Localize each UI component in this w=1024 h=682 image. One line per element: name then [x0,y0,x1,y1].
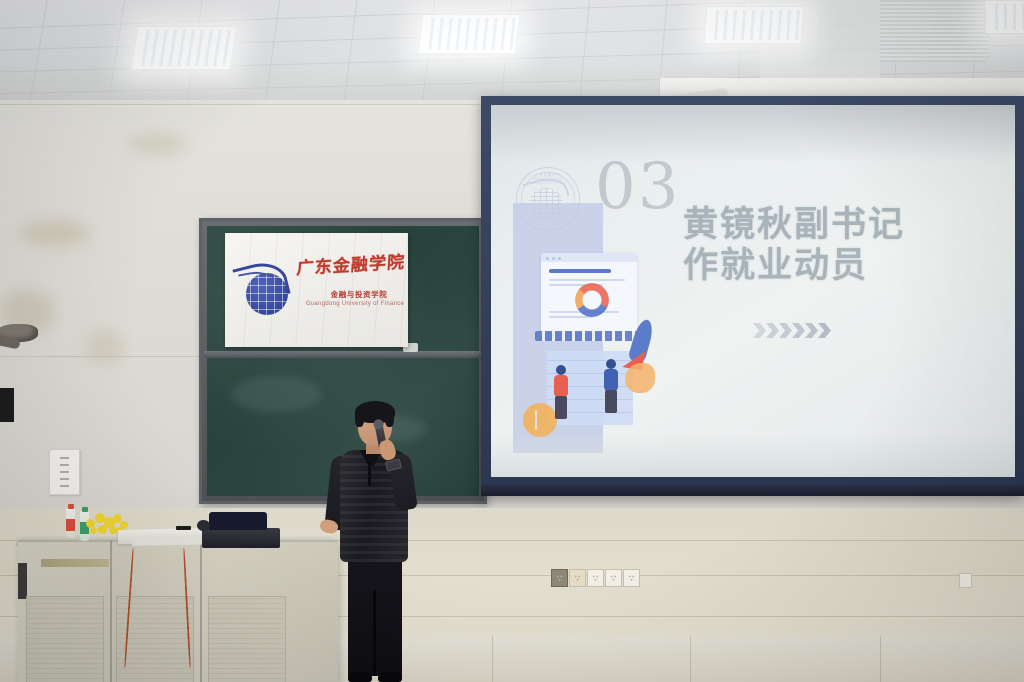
ceiling-vent [930,18,990,58]
wall-notice-sign [49,449,80,495]
flower-bloom [98,525,107,534]
ceiling-light-4 [985,0,1024,34]
wall-socket-group[interactable] [551,569,640,585]
ceiling-light-3 [704,6,805,44]
laptop [202,528,280,548]
banner-university-name-en: Guangdong University of Finance [299,301,408,307]
browser-titlebar [541,253,637,262]
chevron-icon [766,323,779,338]
mouse [197,520,210,531]
banner-university-name: 广东金融学院 [296,248,402,279]
donut-chart-icon [575,283,609,317]
lectern-nameplate [41,559,109,567]
classroom-scene: 广东金融学院 金融与投资学院 Guangdong University of F… [0,0,1024,682]
presenter-shoe-right [378,672,402,682]
projection-screen: 广东金融学院 GUANGDONG UNIVERSITY OF FINANCE [481,96,1024,496]
person-figure-red [553,365,569,419]
slide-bottom-shade [491,433,1015,477]
chevron-icon [792,323,805,338]
coin-icon [523,403,557,437]
ceiling-light-2 [418,14,520,54]
chevron-icon [818,323,831,338]
rocket-icon [623,319,665,391]
chevron-arrows-icon [753,323,831,338]
wall-socket[interactable] [605,569,622,587]
laptop-lid [209,512,267,530]
wall-socket[interactable] [551,569,568,587]
slide-title-line1: 黄镜秋副书记 [683,205,1003,246]
banner-school-name: 金融与投资学院 [309,289,408,300]
water-bottle-red-label [66,508,75,538]
chevron-icon [753,323,766,338]
chalk-rail [204,351,482,358]
speaker-with-microphone [322,404,420,682]
slide-title-line2: 作就业动员 [683,246,1003,287]
lectern-side-panel [18,563,27,599]
chevron-icon [805,323,818,338]
notice-text-lines [60,457,69,487]
university-emblem-icon: 广东金融学院 GUANGDONG UNIVERSITY OF FINANCE [516,167,580,231]
presentation-slide: 广东金融学院 GUANGDONG UNIVERSITY OF FINANCE [491,105,1015,477]
chevron-icon [779,323,792,338]
presenter-trousers [348,556,402,676]
flower-bloom [90,527,97,534]
presenter-placket [368,460,371,486]
ceiling [0,0,1024,104]
browser-headline [549,269,611,273]
pen [176,526,191,530]
slide-section-number: 03 [595,155,680,219]
person-figure-blue [603,359,619,413]
department-banner: 广东金融学院 金融与投资学院 Guangdong University of F… [225,233,408,347]
globe-wing-logo-icon [236,261,294,319]
presenter-shoe-left [348,672,372,682]
emblem-globe-icon [529,188,563,220]
ceiling-light-1 [131,26,238,70]
wall-mounted-fan [0,318,42,352]
wall-socket[interactable] [623,569,640,587]
wall-fan-bracket [0,388,14,422]
slide-top-glare [491,105,1015,163]
slide-title: 黄镜秋副书记 作就业动员 [683,205,1003,288]
wall-socket[interactable] [569,569,586,587]
business-dashboard-illustration [523,253,673,443]
wall-plate [959,573,972,588]
wall-socket[interactable] [587,569,604,587]
